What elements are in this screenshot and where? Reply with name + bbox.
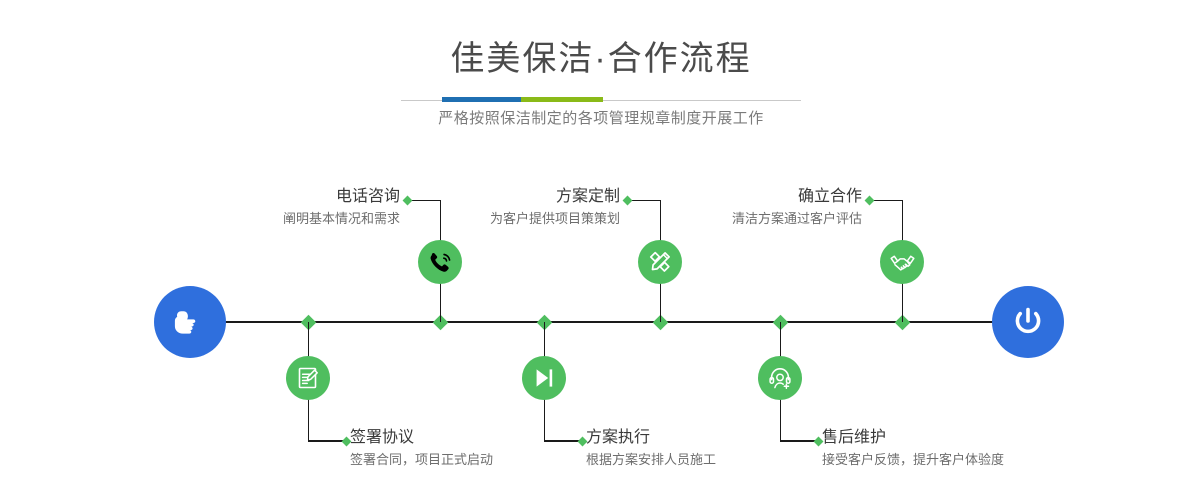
step-label-phone-consultation: 电话咨询 阐明基本情况和需求 — [238, 186, 404, 230]
connector-tip-3 — [623, 195, 633, 205]
connector-horizontal-2 — [308, 440, 346, 442]
connector-horizontal-3 — [628, 200, 661, 202]
step-icon-plan-customization[interactable] — [638, 240, 682, 284]
step-label-plan-customization: 方案定制 为客户提供项目策策划 — [458, 186, 624, 230]
divider-segment-blue — [442, 97, 521, 102]
customer-service-icon — [767, 365, 793, 391]
connector-horizontal-5 — [870, 200, 903, 202]
step-icon-establish-cooperation[interactable] — [880, 240, 924, 284]
step-desc-phone-consultation: 阐明基本情况和需求 — [238, 208, 404, 230]
step-title-phone-consultation: 电话咨询 — [238, 186, 404, 208]
timeline-end-endpoint — [992, 286, 1064, 358]
connector-horizontal-4 — [544, 440, 582, 442]
play-execute-icon — [531, 365, 557, 391]
step-desc-after-sales-maintenance: 接受客户反馈，提升客户体验度 — [822, 449, 1004, 471]
step-title-plan-customization: 方案定制 — [458, 186, 624, 208]
step-title-establish-cooperation: 确立合作 — [700, 186, 866, 208]
step-label-plan-execution: 方案执行 根据方案安排人员施工 — [586, 427, 716, 471]
step-desc-sign-agreement: 签署合同，项目正式启动 — [350, 449, 493, 471]
step-icon-phone-consultation[interactable] — [418, 240, 462, 284]
connector-horizontal-1 — [408, 200, 441, 202]
phone-call-icon — [427, 249, 453, 275]
step-title-after-sales-maintenance: 售后维护 — [822, 427, 1004, 449]
pencil-ruler-icon — [647, 249, 673, 275]
connector-horizontal-6 — [780, 440, 818, 442]
step-icon-plan-execution[interactable] — [522, 356, 566, 400]
timeline-start-endpoint — [154, 286, 226, 358]
step-icon-after-sales-maintenance[interactable] — [758, 356, 802, 400]
connector-tip-1 — [403, 195, 413, 205]
power-icon — [1007, 301, 1049, 343]
handshake-icon — [889, 249, 916, 276]
step-title-sign-agreement: 签署协议 — [350, 427, 493, 449]
title-divider — [401, 97, 801, 103]
step-desc-establish-cooperation: 清洁方案通过客户评估 — [700, 208, 866, 230]
step-label-sign-agreement: 签署协议 签署合同，项目正式启动 — [350, 427, 493, 471]
connector-tip-5 — [865, 195, 875, 205]
step-label-after-sales-maintenance: 售后维护 接受客户反馈，提升客户体验度 — [822, 427, 1004, 471]
page-subtitle: 严格按照保洁制定的各项管理规章制度开展工作 — [0, 107, 1202, 131]
step-desc-plan-execution: 根据方案安排人员施工 — [586, 449, 716, 471]
process-flow-infographic: 佳美保洁·合作流程 严格按照保洁制定的各项管理规章制度开展工作 — [0, 0, 1202, 502]
step-label-establish-cooperation: 确立合作 清洁方案通过客户评估 — [700, 186, 866, 230]
page-title: 佳美保洁·合作流程 — [0, 36, 1202, 82]
divider-segment-green — [521, 97, 603, 102]
step-desc-plan-customization: 为客户提供项目策策划 — [458, 208, 624, 230]
document-edit-icon — [295, 365, 321, 391]
pointing-hand-icon — [170, 302, 210, 342]
step-icon-sign-agreement[interactable] — [286, 356, 330, 400]
step-title-plan-execution: 方案执行 — [586, 427, 716, 449]
